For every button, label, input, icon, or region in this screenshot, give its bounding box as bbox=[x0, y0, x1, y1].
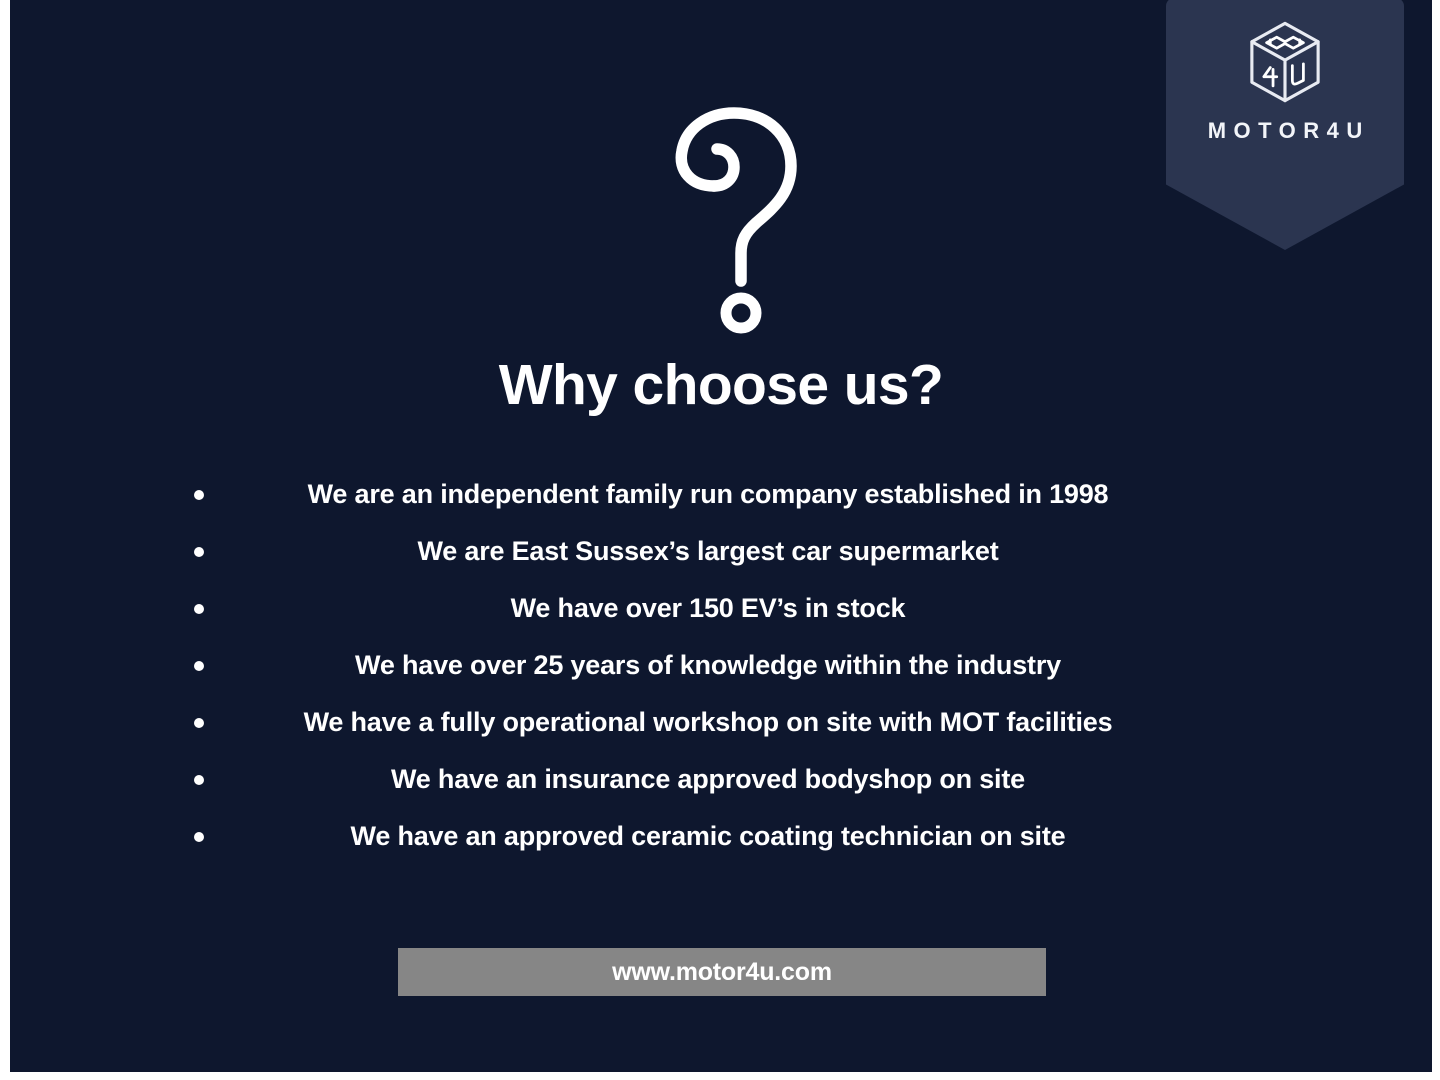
benefits-list: We are an independent family run company… bbox=[10, 466, 1432, 865]
list-item-label: We are an independent family run company… bbox=[308, 479, 1109, 510]
list-item-label: We have over 25 years of knowledge withi… bbox=[355, 650, 1061, 681]
website-url-label: www.motor4u.com bbox=[612, 958, 832, 987]
list-item-label: We have a fully operational workshop on … bbox=[304, 707, 1113, 738]
bullet-point-icon bbox=[194, 718, 204, 728]
bullet-point-icon bbox=[194, 661, 204, 671]
brand-ribbon: MOTOR4U bbox=[1166, 0, 1404, 250]
bullet-point-icon bbox=[194, 604, 204, 614]
list-item: We have over 25 years of knowledge withi… bbox=[10, 637, 1432, 694]
list-item: We have an insurance approved bodyshop o… bbox=[10, 751, 1432, 808]
list-item-label: We have an approved ceramic coating tech… bbox=[351, 821, 1066, 852]
list-item: We are an independent family run company… bbox=[10, 466, 1432, 523]
slide-canvas: MOTOR4U Why choose us? We are an indepen… bbox=[10, 0, 1432, 1072]
list-item: We have over 150 EV’s in stock bbox=[10, 580, 1432, 637]
list-item-label: We are East Sussex’s largest car superma… bbox=[417, 536, 998, 567]
bullet-point-icon bbox=[194, 832, 204, 842]
bullet-point-icon bbox=[194, 775, 204, 785]
brand-wordmark: MOTOR4U bbox=[1200, 118, 1370, 144]
list-item-label: We have over 150 EV’s in stock bbox=[511, 593, 906, 624]
list-item: We have a fully operational workshop on … bbox=[10, 694, 1432, 751]
bullet-point-icon bbox=[194, 490, 204, 500]
page-title: Why choose us? bbox=[10, 352, 1432, 418]
list-item: We have an approved ceramic coating tech… bbox=[10, 808, 1432, 865]
motor4u-cube-logo-icon bbox=[1239, 16, 1331, 108]
website-banner[interactable]: www.motor4u.com bbox=[398, 948, 1046, 996]
list-item: We are East Sussex’s largest car superma… bbox=[10, 523, 1432, 580]
bullet-point-icon bbox=[194, 547, 204, 557]
brand-ribbon-content: MOTOR4U bbox=[1166, 0, 1404, 144]
question-mark-icon bbox=[651, 90, 831, 340]
list-item-label: We have an insurance approved bodyshop o… bbox=[391, 764, 1025, 795]
